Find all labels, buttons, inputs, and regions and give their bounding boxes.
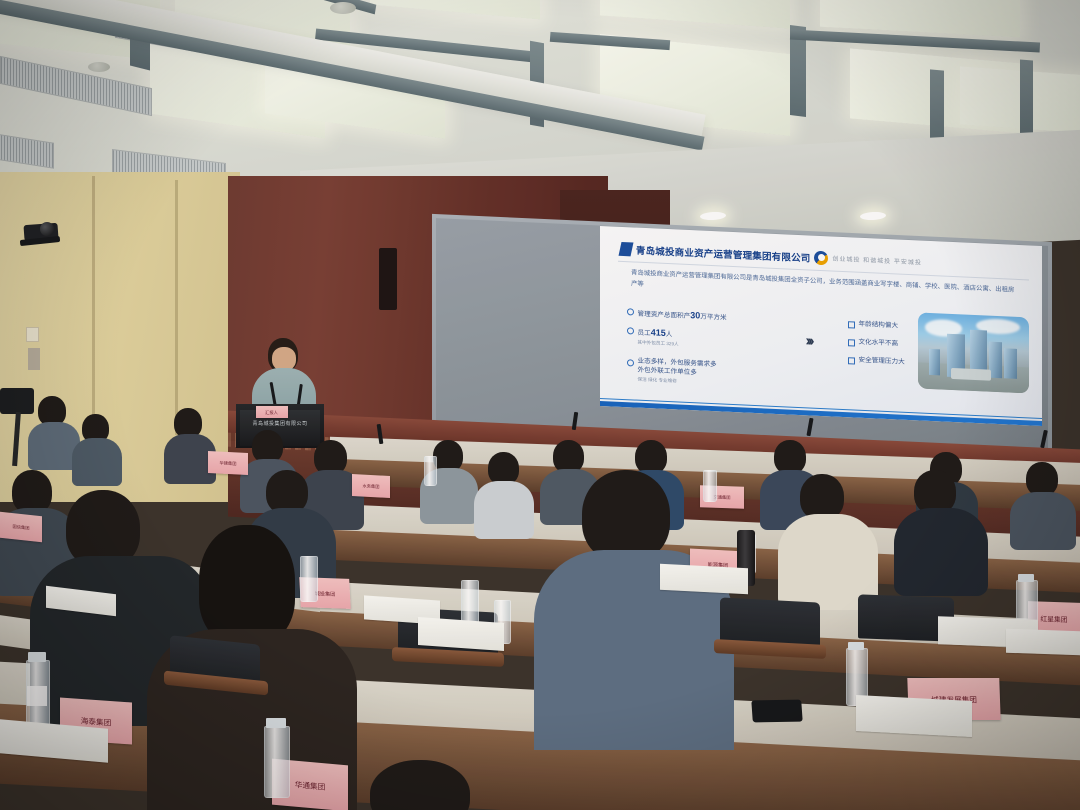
attendee-head — [774, 440, 806, 474]
ceiling-soffit-beam — [0, 0, 705, 150]
attendee — [474, 452, 532, 536]
ceiling-light-panel — [370, 0, 540, 19]
attendee-torso — [474, 481, 534, 539]
wall-socket-plate — [28, 348, 40, 370]
video-camera-icon — [0, 388, 34, 414]
attendee — [30, 396, 78, 466]
document-sheet — [418, 617, 504, 651]
bullet-text: 安全管理压力大 — [859, 356, 905, 367]
name-card: 国信集团 — [0, 512, 42, 542]
smartphone — [751, 700, 802, 723]
ceiling-speaker-icon — [88, 62, 110, 72]
attendee-foreground — [340, 760, 510, 810]
water-bottle — [264, 726, 290, 798]
bullet-prefix: 管理资产总面积产 — [638, 311, 691, 320]
bullet-suffix: 万平方米 — [700, 314, 726, 322]
document-sheet — [1006, 629, 1080, 656]
bottle-cap — [266, 718, 286, 728]
podium-label: 青岛城投集团有限公司 — [240, 420, 320, 427]
bottle-label — [27, 686, 47, 706]
square-bullet-icon — [848, 339, 855, 346]
bullet-highlight: 30 — [690, 310, 700, 320]
circle-bullet-icon — [627, 359, 634, 366]
bottle-cap — [28, 652, 46, 662]
name-card-label: 国信集团 — [12, 523, 29, 531]
bullet-text: 业态多样，外包服务需求多 外包外联工作单位多 保洁 绿化 专业维修 — [638, 358, 717, 387]
square-bullet-icon — [848, 322, 855, 329]
ceiling-beam — [930, 69, 944, 146]
water-bottle — [461, 580, 479, 626]
tower-shape — [1004, 348, 1016, 379]
attendee-torso — [894, 508, 988, 596]
attendee — [74, 414, 120, 480]
bullet-subtext: 其中外包员工 329人 — [638, 340, 679, 348]
attendee-head — [370, 760, 470, 810]
bullet-text: 员工415人 其中外包员工 329人 — [638, 326, 679, 348]
attendee-torso — [1010, 492, 1076, 550]
bullet-item: 业态多样，外包服务需求多 外包外联工作单位多 保洁 绿化 专业维修 — [627, 357, 804, 390]
water-bottle — [300, 556, 318, 602]
document-sheet — [856, 695, 972, 737]
name-card-label: 华通集团 — [295, 778, 326, 792]
bullet-suffix: 人 — [666, 331, 673, 338]
ceiling-light-panel — [600, 0, 790, 29]
ceiling-speaker-icon — [330, 2, 356, 14]
camera-lens-icon — [40, 222, 54, 236]
attendee — [164, 408, 214, 478]
bottle-cap — [1018, 574, 1034, 582]
attendee-torso — [72, 438, 122, 486]
wall-switch-plate — [26, 327, 39, 342]
attendee — [780, 474, 872, 604]
bullet-prefix: 员工 — [638, 330, 651, 338]
slide-left-bullets: 管理资产总面积产30万平方米 员工415人 其中外包员工 329人 业态多样，外… — [627, 306, 804, 396]
wall-seam — [92, 176, 95, 446]
circle-bullet-icon — [627, 327, 634, 334]
attendee-head — [635, 440, 667, 474]
bullet-text: 文化水平不高 — [859, 338, 899, 349]
name-card-label: 水务集团 — [362, 483, 379, 490]
square-bullet-icon — [848, 357, 855, 364]
attendee — [1010, 462, 1074, 546]
presentation-slide: 青岛城投商业资产运营管理集团有限公司 创业城投 和谐城投 平安城投 青岛城投商业… — [600, 226, 1042, 426]
bullet-highlight: 415 — [651, 327, 666, 338]
circle-bullet-icon — [627, 308, 634, 315]
name-card: 水务集团 — [352, 474, 390, 498]
wall-speaker-box — [379, 248, 397, 310]
flag-icon — [618, 242, 633, 256]
company-logo-icon — [814, 250, 828, 265]
document-sheet — [660, 564, 748, 595]
attendee-foreground — [540, 470, 720, 750]
bullet-text: 管理资产总面积产30万平方米 — [638, 307, 727, 324]
ceiling-beam — [1020, 60, 1033, 141]
name-card-label: 红星集团 — [1040, 614, 1067, 624]
attendee-head — [199, 525, 295, 645]
building-photo — [918, 312, 1029, 393]
bullet-suffix: 外包外联工作单位多 — [638, 367, 697, 377]
bullet-item: 管理资产总面积产30万平方米 — [627, 306, 804, 327]
tower-shape — [929, 349, 940, 375]
attendee-head — [1026, 462, 1058, 496]
name-card-label: 华建集团 — [219, 460, 236, 467]
conference-room-photo: 青岛城投商业资产运营管理集团有限公司 创业城投 和谐城投 平安城投 青岛城投商业… — [0, 0, 1080, 810]
bullet-item: 员工415人 其中外包员工 329人 — [627, 325, 804, 353]
attendee-head — [582, 470, 670, 562]
bottle-cap — [848, 642, 864, 650]
slide-company-title: 青岛城投商业资产运营管理集团有限公司 — [636, 242, 811, 264]
podium-building-shape — [951, 368, 991, 380]
chevron-right-icon: ››› — [806, 332, 812, 349]
name-card-label: 海泰集团 — [81, 714, 112, 727]
name-card: 华建集团 — [208, 451, 248, 475]
bullet-text: 年龄结构偏大 — [859, 321, 899, 332]
podium-name-card-label: 汇报人 — [266, 409, 279, 415]
water-bottle — [703, 470, 717, 502]
wall-seam — [175, 180, 178, 435]
attendee — [896, 470, 982, 588]
podium-name-card: 汇报人 — [256, 406, 288, 418]
slide-tagline: 创业城投 和谐城投 平安城投 — [832, 254, 921, 267]
water-bottle — [424, 456, 437, 486]
bullet-subtext: 保洁 绿化 专业维修 — [638, 377, 717, 387]
